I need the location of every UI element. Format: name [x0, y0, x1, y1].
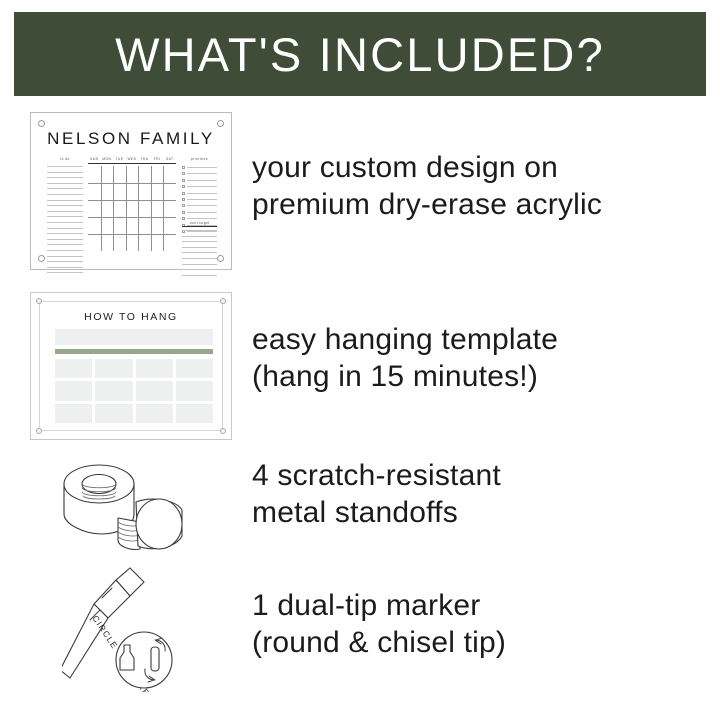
- hanging-template-title: HOW TO HANG: [31, 311, 231, 323]
- template-grid-cell: [95, 381, 132, 400]
- feature-text-standoffs: 4 scratch-resistant metal standoffs: [252, 458, 692, 531]
- calendar-day-tue: TUE: [113, 157, 126, 163]
- calendar-dont-forget-label: don't forget: [182, 221, 217, 227]
- template-grid-cell: [55, 381, 92, 400]
- template-grid: [55, 359, 213, 423]
- calendar-todo-column: to do: [47, 157, 83, 251]
- calendar-side-column: priorities don't forget: [182, 157, 217, 251]
- calendar-day-header-row: SUN MON TUE WED THU FRI SAT: [88, 157, 176, 164]
- calendar-dont-forget-lines: [182, 230, 217, 280]
- template-grid-cell: [136, 404, 173, 423]
- feature-text-marker: 1 dual-tip marker (round & chisel tip): [252, 588, 692, 661]
- template-header-strip: [55, 329, 213, 345]
- standoff-hole-icon: [217, 255, 224, 262]
- calendar-grid-lines: [88, 166, 176, 251]
- template-grid-cell: [55, 404, 92, 423]
- marker-svg: CIRCLE & SQUARE: [62, 566, 184, 692]
- template-grid-cell: [176, 381, 213, 400]
- calendar-day-sat: SAT: [163, 157, 176, 163]
- calendar-day-wed: WED: [126, 157, 139, 163]
- feature-text-hanging-template: easy hanging template (hang in 15 minute…: [252, 322, 692, 395]
- template-grid-cell: [136, 381, 173, 400]
- template-grid-cell: [176, 404, 213, 423]
- hanging-template-illustration: HOW TO HANG: [30, 292, 232, 440]
- standoff-hole-icon: [38, 120, 45, 127]
- dual-tip-marker-illustration: CIRCLE & SQUARE: [62, 566, 184, 692]
- acrylic-calendar-illustration: NELSON FAMILY to do SUN MON TUE WED THU: [30, 112, 232, 270]
- template-corner-marker-icon: [36, 428, 42, 434]
- template-grid-cell: [136, 359, 173, 378]
- calendar-day-sun: SUN: [88, 157, 101, 163]
- metal-standoffs-illustration: [56, 452, 198, 558]
- calendar-todo-label: to do: [47, 157, 83, 163]
- calendar-todo-lines: [47, 166, 83, 278]
- feature-text-acrylic-board: your custom design on premium dry-erase …: [252, 150, 692, 223]
- calendar-family-name: NELSON FAMILY: [31, 129, 231, 149]
- calendar-month-grid: SUN MON TUE WED THU FRI SAT: [88, 157, 176, 251]
- standoff-hole-icon: [217, 120, 224, 127]
- calendar-priorities-label: priorities: [182, 157, 217, 163]
- header-banner: WHAT'S INCLUDED?: [14, 12, 706, 96]
- calendar-day-mon: MON: [101, 157, 114, 163]
- standoff-svg: [56, 452, 198, 558]
- calendar-body: to do SUN MON TUE WED THU FRI SAT: [47, 157, 217, 251]
- calendar-day-fri: FRI: [151, 157, 164, 163]
- template-corner-marker-icon: [36, 298, 42, 304]
- template-corner-marker-icon: [220, 298, 226, 304]
- template-accent-bar: [55, 349, 213, 354]
- page-title: WHAT'S INCLUDED?: [115, 31, 605, 78]
- template-grid-cell: [55, 359, 92, 378]
- template-grid-cell: [95, 404, 132, 423]
- calendar-day-thu: THU: [138, 157, 151, 163]
- template-corner-marker-icon: [220, 428, 226, 434]
- template-grid-cell: [95, 359, 132, 378]
- standoff-hole-icon: [38, 255, 45, 262]
- template-grid-cell: [176, 359, 213, 378]
